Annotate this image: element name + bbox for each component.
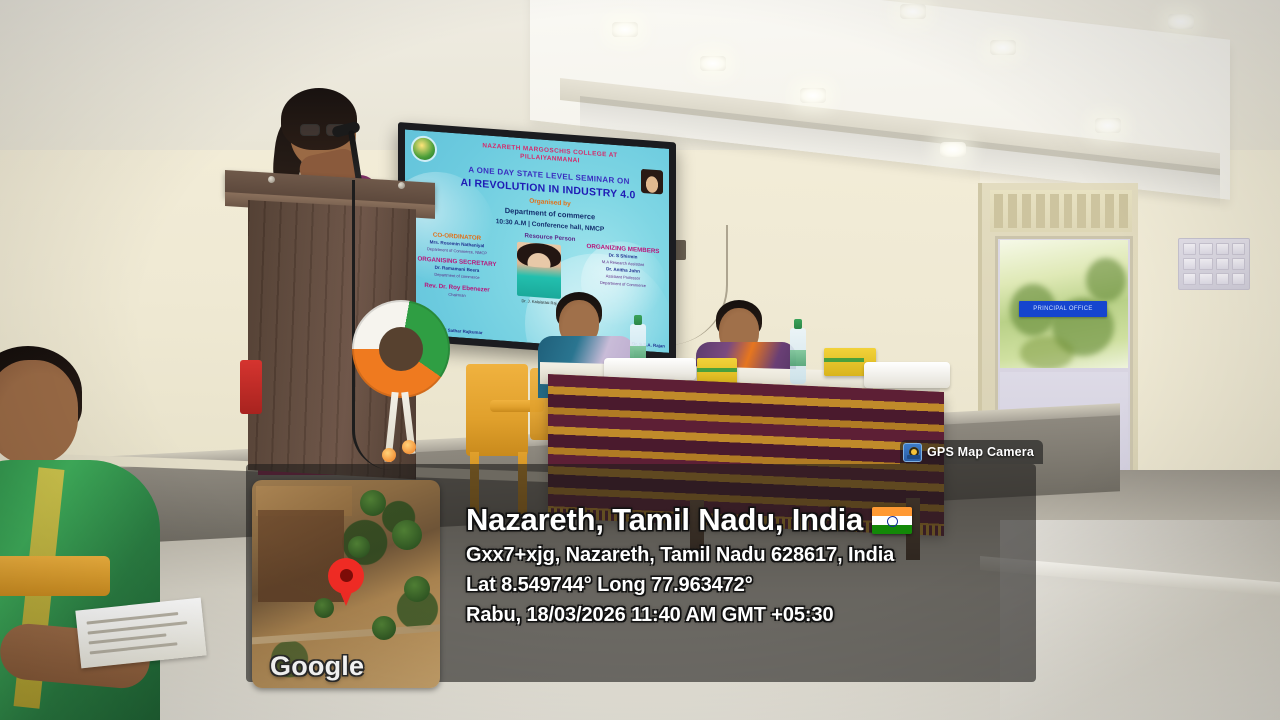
map-tree (360, 490, 386, 516)
floor-reflection (1000, 520, 1280, 720)
foreground-attendee (0, 382, 230, 720)
map-thumbnail[interactable]: Google (252, 480, 440, 688)
attendee-head (0, 360, 78, 464)
speaker-hair (281, 88, 357, 150)
water-bottle (790, 328, 806, 384)
gps-coordinates: Lat 8.549744° Long 77.963472° (466, 570, 1036, 600)
slide-members-column: ORGANIZING MEMBERS Dr. S Shirmin M.A Res… (573, 242, 669, 291)
transom-window (990, 190, 1132, 232)
wreath-flower (382, 448, 396, 462)
resource-person-photo (517, 242, 561, 299)
college-logo-icon (411, 135, 437, 163)
red-object (240, 360, 262, 414)
map-tree (404, 576, 430, 602)
ceiling-light-icon (1168, 14, 1194, 29)
ceiling-light-icon (800, 88, 826, 103)
bottle-label (790, 350, 806, 366)
gps-map-camera-icon (903, 443, 922, 462)
folded-napkin (864, 362, 950, 388)
tricolor-wreath (352, 300, 450, 398)
gps-location-title-row: Nazareth, Tamil Nadu, India (466, 500, 1036, 540)
map-road (252, 622, 440, 645)
gps-location-title: Nazareth, Tamil Nadu, India (466, 500, 863, 540)
podium-screw (268, 176, 275, 183)
gps-address: Gxx7+xjg, Nazareth, Tamil Nadu 628617, I… (466, 540, 1036, 570)
map-pin-icon (328, 558, 364, 604)
ceiling-light-icon (700, 56, 726, 71)
map-tree (372, 616, 396, 640)
podium-screw (398, 182, 405, 189)
map-tree (348, 536, 370, 558)
slide-coordinator-column: CO-ORDINATOR Mrs. Rosemin Nathaniyal Dep… (409, 230, 505, 302)
ceiling-light-icon (990, 40, 1016, 55)
attendee-chair (0, 556, 110, 596)
india-flag-icon (872, 507, 912, 534)
ceiling-light-icon (1095, 118, 1121, 133)
google-logo-label: Google (270, 651, 364, 682)
light-switch-panel[interactable] (1178, 238, 1250, 290)
ceiling-light-icon (612, 22, 638, 37)
wreath-flower (402, 440, 416, 454)
gps-text-block: Nazareth, Tamil Nadu, India Gxx7+xjg, Na… (466, 500, 1036, 631)
ceiling-light-icon (900, 4, 926, 19)
photo-canvas: PRINCIPAL OFFICE NAZARETH MARGOSCHIS COL… (0, 0, 1280, 720)
map-tree (392, 520, 422, 550)
door-sign: PRINCIPAL OFFICE (1019, 301, 1107, 317)
map-pin-dot (340, 569, 353, 582)
door-sign-text: PRINCIPAL OFFICE (1019, 301, 1107, 317)
gps-map-camera-watermark: GPS Map Camera (900, 440, 1043, 464)
resource-person-hair (517, 242, 561, 269)
gps-datetime: Rabu, 18/03/2026 11:40 AM GMT +05:30 (466, 600, 1036, 631)
ceiling-light-icon (940, 142, 966, 157)
gps-map-camera-label: GPS Map Camera (927, 445, 1034, 459)
